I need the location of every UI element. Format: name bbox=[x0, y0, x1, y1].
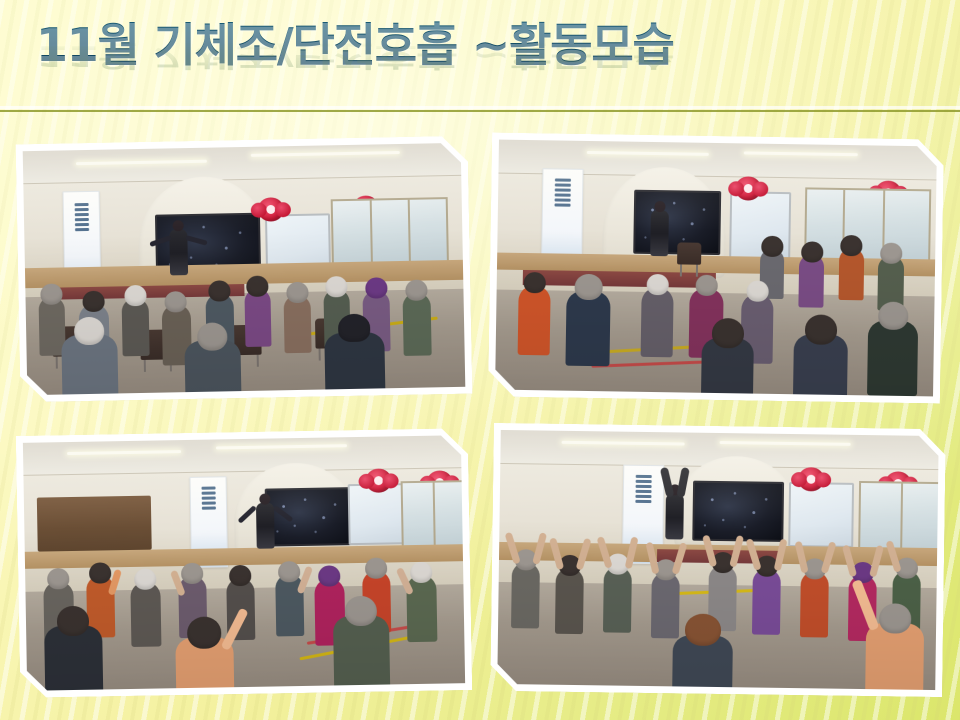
participant bbox=[402, 292, 431, 356]
participant bbox=[244, 288, 271, 347]
participant-foreground bbox=[333, 615, 390, 690]
banner-text bbox=[632, 474, 655, 502]
photo-frame-top-right[interactable] bbox=[488, 132, 944, 403]
participant-foreground bbox=[867, 320, 918, 396]
participant bbox=[406, 575, 437, 642]
whiteboard bbox=[729, 191, 791, 263]
photo-frame-bottom-left[interactable] bbox=[16, 428, 473, 698]
participant bbox=[566, 291, 611, 367]
balloon-decoration bbox=[365, 469, 391, 493]
photo-top-right bbox=[495, 140, 937, 397]
photo-frame-bottom-right[interactable] bbox=[490, 423, 946, 697]
participant bbox=[838, 247, 864, 300]
participant bbox=[130, 582, 161, 647]
participant-foreground bbox=[44, 625, 103, 691]
whiteboard bbox=[788, 482, 854, 548]
presentation-slide: 11월 기체조/단전호흡 ~활동모습 11월 기체조/단전호흡 ~활동모습 bbox=[0, 0, 960, 720]
participant-foreground bbox=[324, 332, 385, 395]
participant-foreground bbox=[175, 638, 234, 691]
banner-text bbox=[198, 487, 219, 510]
banner-text bbox=[551, 178, 574, 206]
participant-foreground bbox=[184, 340, 241, 395]
photo-bottom-right bbox=[497, 430, 939, 690]
instructor bbox=[666, 493, 685, 539]
instructor bbox=[650, 209, 669, 255]
classroom-scene-3 bbox=[23, 435, 465, 691]
window bbox=[858, 481, 938, 552]
participant-foreground bbox=[701, 338, 754, 397]
display-screen bbox=[265, 487, 353, 547]
participant bbox=[640, 287, 673, 357]
participant-foreground bbox=[672, 636, 733, 690]
photo-frame-top-left[interactable] bbox=[16, 136, 473, 403]
participant-foreground bbox=[793, 334, 848, 396]
participant bbox=[511, 562, 540, 628]
window bbox=[330, 197, 449, 267]
participant bbox=[603, 566, 632, 632]
window bbox=[400, 480, 465, 550]
participant bbox=[651, 572, 680, 638]
instructor bbox=[256, 503, 275, 549]
participant bbox=[799, 254, 825, 307]
participant bbox=[752, 568, 781, 634]
participant bbox=[122, 298, 150, 357]
photo-bottom-left bbox=[23, 435, 465, 691]
podium bbox=[37, 495, 152, 552]
participant bbox=[800, 571, 829, 637]
page-title: 11월 기체조/단전호흡 ~활동모습 bbox=[36, 16, 674, 74]
participant bbox=[555, 568, 584, 634]
participant-foreground bbox=[61, 335, 118, 395]
balloon-decoration bbox=[735, 176, 761, 200]
participant bbox=[275, 574, 304, 636]
classroom-scene-4 bbox=[497, 430, 939, 690]
balloon-decoration bbox=[798, 467, 824, 491]
classroom-scene-2 bbox=[495, 140, 937, 397]
chair bbox=[677, 242, 701, 264]
photo-top-left bbox=[23, 143, 466, 395]
instructor bbox=[169, 229, 188, 275]
participant bbox=[518, 285, 551, 355]
participant bbox=[284, 295, 312, 354]
display-screen bbox=[692, 481, 784, 542]
title-divider bbox=[0, 110, 960, 112]
banner-text bbox=[71, 203, 92, 231]
slide-title-block: 11월 기체조/단전호흡 ~활동모습 11월 기체조/단전호흡 ~활동모습 bbox=[30, 16, 930, 108]
classroom-scene-1 bbox=[23, 143, 466, 395]
participant-foreground bbox=[865, 623, 924, 690]
